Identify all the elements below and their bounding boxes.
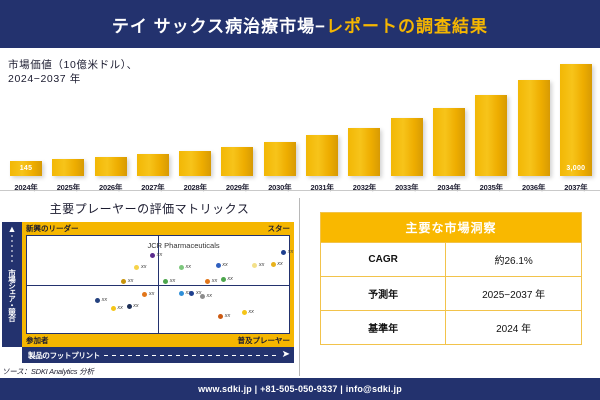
bar-column <box>262 58 298 176</box>
bar-column <box>50 58 86 176</box>
bar-column <box>304 58 340 176</box>
bar-column <box>219 58 255 176</box>
arrow-up-icon: ▲ <box>8 225 17 234</box>
bar-column <box>389 58 425 176</box>
matrix-data-point <box>163 279 168 284</box>
matrix-title: 主要プレーヤーの評価マトリックス <box>0 200 299 217</box>
chart-bar <box>433 108 465 176</box>
market-value-chart: 市場価値（10億米ドル）、 2024−2037 年 1453,000 2024年… <box>0 48 600 198</box>
matrix-data-point <box>150 253 155 258</box>
matrix-data-point <box>218 314 223 319</box>
section-divider <box>0 190 600 191</box>
matrix-data-point <box>189 291 194 296</box>
matrix-data-point-label: xx <box>102 297 108 303</box>
bar-column <box>135 58 171 176</box>
quadrant-label-star: スター <box>268 223 291 234</box>
chart-bar <box>52 159 84 176</box>
bar-value-label: 3,000 <box>560 165 592 172</box>
bar-value-label: 145 <box>10 165 42 172</box>
table-row: 予測年2025−2037 年 <box>321 277 582 311</box>
report-footer: www.sdki.jp | +81-505-050-9337 | info@sd… <box>0 378 600 400</box>
matrix-data-point-label: xx <box>141 264 147 270</box>
matrix-chart: ▲ 市場シェア・競合 新興のリーダー スター JCR Pharmaceutica… <box>2 222 294 347</box>
matrix-data-point <box>242 310 247 315</box>
key-insights-body: CAGR約26.1%予測年2025−2037 年基準年2024 年 <box>321 243 582 345</box>
matrix-bottom-labels: 参加者 普及プレーヤー <box>22 334 294 347</box>
matrix-x-axis-label: 製品のフットプリント <box>28 350 100 361</box>
bar-column: 3,000 <box>558 58 594 176</box>
table-row: 基準年2024 年 <box>321 311 582 345</box>
key-insights-panel: 主要な市場洞察 CAGR約26.1%予測年2025−2037 年基準年2024 … <box>300 196 600 378</box>
matrix-data-point-label: xx <box>128 278 134 284</box>
matrix-quadrants: JCR Pharmaceuticals xxxxxxxxxxxxxxxxxxxx… <box>26 235 290 334</box>
matrix-y-axis: ▲ 市場シェア・競合 <box>2 222 22 347</box>
matrix-data-point-label: xx <box>259 262 265 268</box>
matrix-top-labels: 新興のリーダー スター <box>22 222 294 235</box>
matrix-body: 新興のリーダー スター JCR Pharmaceuticals xxxxxxxx… <box>22 222 294 347</box>
chart-bar <box>137 154 169 176</box>
chart-bars: 1453,000 <box>8 58 594 176</box>
chart-bar <box>306 135 338 176</box>
footer-contact: www.sdki.jp | +81-505-050-9337 | info@sd… <box>198 384 402 394</box>
matrix-data-point <box>200 294 205 299</box>
page-title: テイ サックス病治療市場−レポートの調査結果 <box>112 12 488 37</box>
matrix-data-point-label: xx <box>186 264 192 270</box>
matrix-data-point-label: xx <box>288 249 294 255</box>
matrix-data-point-label: xx <box>170 278 176 284</box>
quadrant-label-pervasive: 普及プレーヤー <box>238 335 291 346</box>
matrix-data-point <box>281 250 286 255</box>
matrix-data-point-label: xx <box>225 313 231 319</box>
quadrant-horizontal-line <box>27 285 289 286</box>
chart-bar <box>391 118 423 176</box>
matrix-data-point <box>271 262 276 267</box>
lower-section: 主要プレーヤーの評価マトリックス ▲ 市場シェア・競合 新興のリーダー スター <box>0 196 600 378</box>
insight-value: 2025−2037 年 <box>446 277 582 311</box>
table-row: CAGR約26.1% <box>321 243 582 277</box>
matrix-y-axis-label: 市場シェア・競合 <box>7 269 18 343</box>
insight-key: CAGR <box>321 243 446 277</box>
chart-bar <box>95 157 127 176</box>
insight-key: 基準年 <box>321 311 446 345</box>
matrix-data-point-label: xx <box>133 303 139 309</box>
quadrant-label-emerging-leader: 新興のリーダー <box>26 223 79 234</box>
matrix-data-point <box>221 277 226 282</box>
matrix-data-point <box>179 291 184 296</box>
chart-bar <box>348 128 380 176</box>
chart-bar <box>518 80 550 176</box>
bar-column <box>177 58 213 176</box>
matrix-data-point <box>142 292 147 297</box>
matrix-company-label: JCR Pharmaceuticals <box>148 241 220 250</box>
matrix-data-point-label: xx <box>248 309 254 315</box>
insight-key: 予測年 <box>321 277 446 311</box>
chart-plot-area: 1453,000 2024年2025年2026年2027年2028年2029年2… <box>8 54 594 198</box>
y-axis-dashes <box>12 235 13 265</box>
chart-bar: 145 <box>10 161 42 176</box>
matrix-data-point-label: xx <box>227 276 233 282</box>
matrix-data-point-label: xx <box>212 278 218 284</box>
report-header: テイ サックス病治療市場−レポートの調査結果 <box>0 0 600 48</box>
matrix-data-point-label: xx <box>149 291 155 297</box>
player-matrix-panel: 主要プレーヤーの評価マトリックス ▲ 市場シェア・競合 新興のリーダー スター <box>0 196 299 378</box>
chart-x-axis: 2024年2025年2026年2027年2028年2029年2030年2031年… <box>8 178 594 196</box>
key-insights-table: 主要な市場洞察 CAGR約26.1%予測年2025−2037 年基準年2024 … <box>320 212 582 345</box>
table-header-row: 主要な市場洞察 <box>321 213 582 243</box>
matrix-x-axis: 製品のフットプリント ➤ <box>22 347 294 363</box>
bar-column <box>431 58 467 176</box>
matrix-data-point-label: xx <box>222 262 228 268</box>
bar-column <box>473 58 509 176</box>
matrix-data-point <box>95 298 100 303</box>
bar-column <box>346 58 382 176</box>
chart-bar <box>179 151 211 176</box>
arrow-right-icon: ➤ <box>282 350 290 360</box>
insight-value: 約26.1% <box>446 243 582 277</box>
matrix-data-point <box>134 265 139 270</box>
matrix-data-point <box>127 304 132 309</box>
page-title-accent: レポートの調査結果 <box>326 17 488 36</box>
matrix-data-point-label: xx <box>277 261 283 267</box>
chart-bar <box>264 142 296 176</box>
bar-column: 145 <box>8 58 44 176</box>
matrix-data-point-label: xx <box>117 305 123 311</box>
chart-bar <box>221 147 253 176</box>
matrix-data-point <box>216 263 221 268</box>
x-axis-dashes <box>104 355 280 356</box>
matrix-data-point <box>179 265 184 270</box>
chart-bar: 3,000 <box>560 64 592 176</box>
matrix-data-point <box>121 279 126 284</box>
matrix-data-point <box>111 306 116 311</box>
matrix-data-point <box>252 263 257 268</box>
matrix-data-point <box>205 279 210 284</box>
source-note: ソース：SDKI Analytics 分析 <box>2 366 94 377</box>
matrix-data-point-label: xx <box>206 293 212 299</box>
insight-value: 2024 年 <box>446 311 582 345</box>
key-insights-header: 主要な市場洞察 <box>321 213 582 243</box>
matrix-data-point-label: xx <box>157 252 163 258</box>
bar-column <box>516 58 552 176</box>
page-title-primary: テイ サックス病治療市場− <box>112 17 326 36</box>
bar-column <box>93 58 129 176</box>
report-infographic: テイ サックス病治療市場−レポートの調査結果 市場価値（10億米ドル）、 202… <box>0 0 600 400</box>
chart-bar <box>475 95 507 176</box>
quadrant-label-participant: 参加者 <box>26 335 49 346</box>
